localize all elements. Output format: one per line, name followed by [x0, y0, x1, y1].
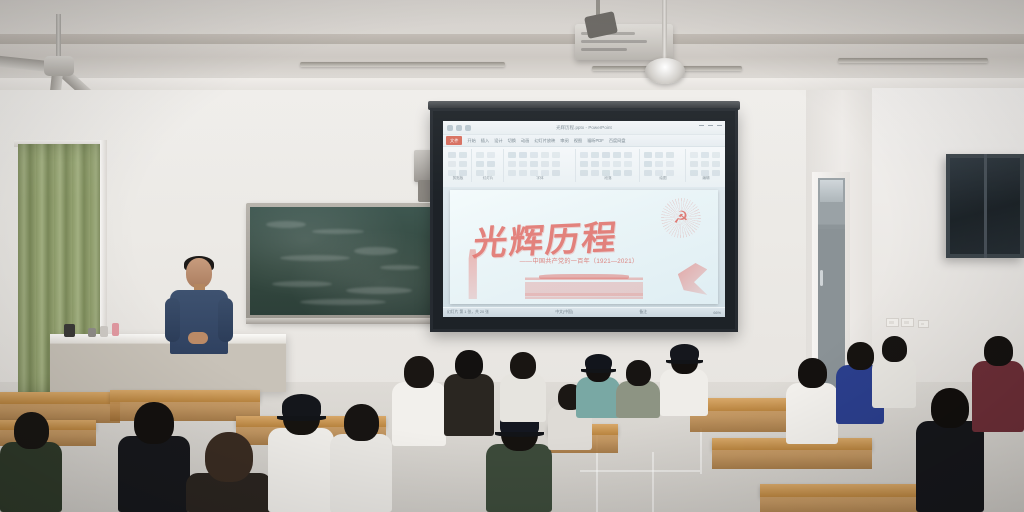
- ribbon-tab[interactable]: 福昕PDF: [587, 138, 604, 144]
- ribbon-button[interactable]: [591, 161, 599, 167]
- ribbon-group[interactable]: 绘图: [641, 149, 686, 182]
- ribbon-group[interactable]: 字体: [505, 149, 576, 182]
- student-head: [847, 342, 874, 370]
- door-handle[interactable]: [820, 270, 823, 286]
- ribbon-tab[interactable]: 百度网盘: [609, 138, 626, 144]
- zoom-level[interactable]: 66%: [713, 311, 721, 315]
- chalk-smudge: [272, 281, 332, 287]
- ribbon-tab[interactable]: 幻灯片放映: [534, 138, 555, 144]
- ceiling-light: [838, 58, 988, 63]
- downlight-fixture: [645, 58, 685, 84]
- switch-rocker[interactable]: [889, 321, 893, 324]
- student-torso: [392, 382, 446, 446]
- student-right-c: [872, 336, 916, 408]
- student-torso: [660, 369, 708, 416]
- slide-canvas[interactable]: ☭ 光辉历程 ——中国共产党的一百年（1921—2021）: [450, 190, 718, 304]
- student-torso: [576, 377, 620, 418]
- floor-tile-line: [652, 452, 654, 512]
- ribbon-group-label: 绘图: [641, 176, 685, 181]
- powerpoint-window[interactable]: 光辉历程.pptx - PowerPoint 文件 开始插入设计切换动画幻灯片放…: [443, 121, 725, 317]
- dark-device: [64, 324, 75, 337]
- student-torso: [486, 444, 552, 512]
- student-head: [134, 402, 174, 444]
- tiananmen-roof: [539, 274, 629, 279]
- ribbon-button[interactable]: [476, 161, 484, 167]
- tiananmen-wall-line: [525, 297, 643, 299]
- ribbon-tab[interactable]: 视图: [574, 138, 582, 144]
- ribbon-button[interactable]: [690, 152, 698, 158]
- ribbon-button[interactable]: [602, 161, 610, 167]
- student-head: [882, 336, 907, 362]
- ribbon-button[interactable]: [644, 152, 652, 158]
- powerpoint-status-bar[interactable]: 幻灯片 第 1 张，共 20 张 中文(中国) 备注 66%: [443, 308, 725, 317]
- chalk-smudge: [354, 247, 398, 255]
- ribbon-tabs[interactable]: 开始插入设计切换动画幻灯片放映审阅视图福昕PDF百度网盘: [467, 138, 625, 144]
- ribbon-button[interactable]: [459, 152, 467, 158]
- cup-white: [100, 326, 108, 337]
- student-front-left-2: [186, 432, 272, 512]
- student-head: [205, 432, 253, 482]
- ribbon-button[interactable]: [602, 152, 610, 158]
- ribbon-button[interactable]: [487, 152, 495, 158]
- ribbon-tab[interactable]: 切换: [508, 138, 516, 144]
- presenter-arm-left: [165, 298, 180, 342]
- ribbon-tab[interactable]: 设计: [494, 138, 502, 144]
- ribbon-button[interactable]: [580, 152, 588, 158]
- student-cap: [282, 394, 321, 418]
- ribbon-button[interactable]: [666, 152, 674, 158]
- student-torso: [268, 428, 334, 512]
- student-head: [404, 356, 434, 388]
- chalk-smudge: [266, 221, 306, 228]
- downlight-rod: [662, 0, 667, 62]
- hammer-and-sickle-emblem: ☭: [668, 205, 694, 231]
- ribbon-button[interactable]: [712, 152, 720, 158]
- chalk-smudge: [346, 287, 412, 294]
- window-mullion: [984, 154, 987, 258]
- student-front-center-1: [268, 396, 334, 512]
- close-icon[interactable]: [717, 125, 722, 131]
- powerpoint-title-bar: 光辉历程.pptx - PowerPoint: [443, 121, 725, 135]
- chalk-smudge: [280, 255, 350, 261]
- student-head: [931, 388, 969, 428]
- student-row2-a: [392, 356, 446, 446]
- fan-rod: [56, 14, 61, 60]
- ribbon-group-label: 段落: [577, 176, 639, 181]
- ribbon-button[interactable]: [712, 161, 720, 167]
- ribbon-button[interactable]: [519, 152, 527, 158]
- ribbon-button[interactable]: [530, 161, 538, 167]
- student-row3-c: [616, 360, 660, 418]
- ribbon-group[interactable]: 段落: [577, 149, 640, 182]
- student-right-d: [972, 336, 1024, 432]
- ribbon-tab[interactable]: 开始: [467, 138, 475, 144]
- minimize-icon[interactable]: [699, 125, 704, 131]
- student-head: [14, 412, 49, 449]
- ribbon-button[interactable]: [508, 152, 516, 158]
- student-torso: [330, 434, 392, 512]
- pink-bottle: [112, 323, 119, 336]
- ribbon-button[interactable]: [508, 161, 516, 167]
- light-switch[interactable]: [901, 318, 914, 327]
- student-head: [510, 352, 536, 379]
- student-torso: [616, 381, 660, 418]
- student-front-right-1: [486, 412, 552, 512]
- student-torso: [872, 357, 916, 408]
- switch-rocker[interactable]: [921, 323, 925, 325]
- ribbon-button[interactable]: [519, 161, 527, 167]
- chalk-tray: [246, 318, 442, 324]
- student-torso: [972, 361, 1024, 432]
- presenter-hands: [188, 332, 208, 344]
- student-row3-b: [576, 356, 620, 418]
- ribbon-tab-strip[interactable]: 文件 开始插入设计切换动画幻灯片放映审阅视图福昕PDF百度网盘: [443, 135, 725, 147]
- ribbon-button[interactable]: [655, 161, 663, 167]
- projection-screen[interactable]: 光辉历程.pptx - PowerPoint 文件 开始插入设计切换动画幻灯片放…: [430, 108, 738, 332]
- chalk-smudge: [300, 299, 386, 305]
- window-controls[interactable]: [699, 125, 722, 131]
- ribbon-button[interactable]: [701, 152, 709, 158]
- green-chalkboard[interactable]: [250, 207, 436, 315]
- ribbon-group[interactable]: 剪贴板: [445, 149, 472, 182]
- ribbon-button[interactable]: [666, 161, 674, 167]
- cup-grey: [88, 328, 96, 337]
- ribbon-button[interactable]: [624, 161, 632, 167]
- maximize-icon[interactable]: [708, 125, 713, 131]
- student-row3-d: [660, 346, 708, 416]
- emblem-glyph: ☭: [672, 209, 690, 227]
- ribbon-tab[interactable]: 审阅: [560, 138, 568, 144]
- ribbon-group-label: 字体: [505, 176, 575, 181]
- ribbon-button[interactable]: [624, 152, 632, 158]
- ribbon-group[interactable]: 幻灯片: [473, 149, 504, 182]
- student-front-center-2: [330, 404, 392, 512]
- tab-file[interactable]: 文件: [446, 136, 462, 145]
- ribbon-button[interactable]: [580, 161, 588, 167]
- ribbon-group-label: 幻灯片: [473, 176, 503, 181]
- student-head: [798, 358, 827, 388]
- presenter-at-front: [168, 258, 230, 354]
- desk-left-back: [0, 392, 120, 404]
- student-head: [455, 350, 483, 379]
- floor-tile-line: [700, 428, 702, 474]
- ribbon-button[interactable]: [448, 152, 456, 158]
- fan-hub: [44, 56, 74, 76]
- ribbon-group[interactable]: 编辑: [687, 149, 725, 182]
- student-torso: [500, 374, 546, 422]
- ribbon[interactable]: 剪贴板幻灯片字体段落绘图编辑: [443, 147, 725, 190]
- student-far-left: [0, 412, 62, 512]
- student-torso: [118, 436, 190, 512]
- student-front-left-1: [118, 402, 190, 512]
- presenter-arm-right: [218, 298, 233, 342]
- ribbon-button[interactable]: [613, 152, 621, 158]
- projector-vent: [581, 48, 627, 51]
- ribbon-button[interactable]: [541, 161, 549, 167]
- ribbon-button[interactable]: [701, 161, 709, 167]
- student-head: [984, 336, 1013, 366]
- ribbon-group-label: 剪贴板: [445, 176, 471, 181]
- window-title: 光辉历程.pptx - PowerPoint: [443, 125, 725, 131]
- student-torso: [916, 421, 984, 512]
- ribbon-button[interactable]: [690, 161, 698, 167]
- ribbon-button[interactable]: [530, 152, 538, 158]
- door-transom-glass: [820, 180, 843, 202]
- ribbon-tab[interactable]: 动画: [521, 138, 529, 144]
- ribbon-group-label: 编辑: [687, 176, 725, 181]
- ribbon-button[interactable]: [552, 161, 560, 167]
- floor-tile-line: [580, 470, 700, 472]
- light-switch[interactable]: [918, 320, 929, 328]
- chalk-smudge: [380, 265, 420, 270]
- chalk-smudge: [312, 229, 364, 234]
- student-row2-c: [500, 352, 546, 422]
- ribbon-button[interactable]: [448, 161, 456, 167]
- student-cap: [670, 344, 699, 361]
- ribbon-button[interactable]: [459, 161, 467, 167]
- slide-stage: ☭ 光辉历程 ——中国共产党的一百年（1921—2021）: [443, 187, 725, 307]
- student-torso: [786, 383, 838, 444]
- desk-panel: [712, 450, 872, 469]
- student-torso: [0, 442, 62, 512]
- classroom-scene: 光辉历程.pptx - PowerPoint 文件 开始插入设计切换动画幻灯片放…: [0, 0, 1024, 512]
- ribbon-button[interactable]: [591, 152, 599, 158]
- student-head: [344, 404, 379, 441]
- language-indicator[interactable]: 中文(中国): [555, 310, 573, 315]
- student-head: [626, 360, 651, 386]
- student-right-a: [786, 358, 838, 444]
- light-switch[interactable]: [886, 318, 899, 327]
- red-ribbon-graphic: [678, 263, 707, 295]
- ribbon-tab[interactable]: 插入: [481, 138, 489, 144]
- student-cap: [585, 354, 612, 370]
- ribbon-button[interactable]: [487, 161, 495, 167]
- ribbon-button[interactable]: [476, 152, 484, 158]
- tiananmen-gate-illustration: [525, 272, 643, 302]
- projector-vent: [581, 40, 647, 43]
- ribbon-button[interactable]: [541, 152, 549, 158]
- slide-indicator: 幻灯片 第 1 张，共 20 张: [447, 310, 489, 315]
- slide-subtitle: ——中国共产党的一百年（1921—2021）: [520, 256, 639, 265]
- ribbon-button[interactable]: [655, 152, 663, 158]
- notes-button[interactable]: 备注: [639, 310, 647, 315]
- ceiling-light: [300, 62, 505, 67]
- ribbon-button[interactable]: [552, 152, 560, 158]
- ribbon-button[interactable]: [613, 161, 621, 167]
- desk-center-back: [110, 390, 260, 402]
- ribbon-button[interactable]: [644, 161, 652, 167]
- switch-rocker[interactable]: [904, 321, 908, 324]
